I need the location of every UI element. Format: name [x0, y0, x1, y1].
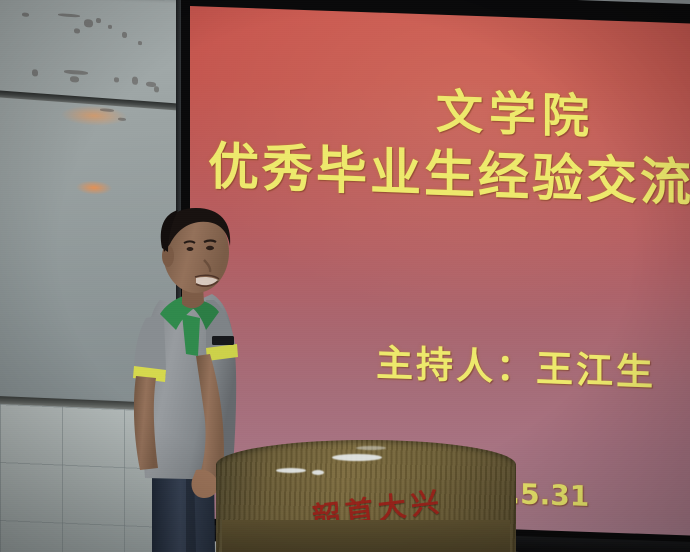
- podium-glare-4: [356, 446, 386, 450]
- whiteboard: [0, 0, 188, 405]
- podium-glare-3: [312, 470, 324, 475]
- whiteboard-divider: [0, 90, 188, 111]
- slide-host-line: 主持人：王江生: [376, 332, 656, 396]
- photograph-scene: 文学院 优秀毕业生经验交流 主持人：王江生 2.5.31: [0, 0, 690, 552]
- left-wall: [0, 0, 196, 552]
- wall-tiles: [0, 404, 196, 552]
- podium-glare-2: [276, 468, 306, 473]
- podium-glare-1: [332, 454, 382, 461]
- whiteboard-marks: [18, 10, 168, 91]
- slide-title-line2: 优秀毕业生经验交流: [208, 125, 690, 216]
- podium-front-panel: [222, 520, 510, 552]
